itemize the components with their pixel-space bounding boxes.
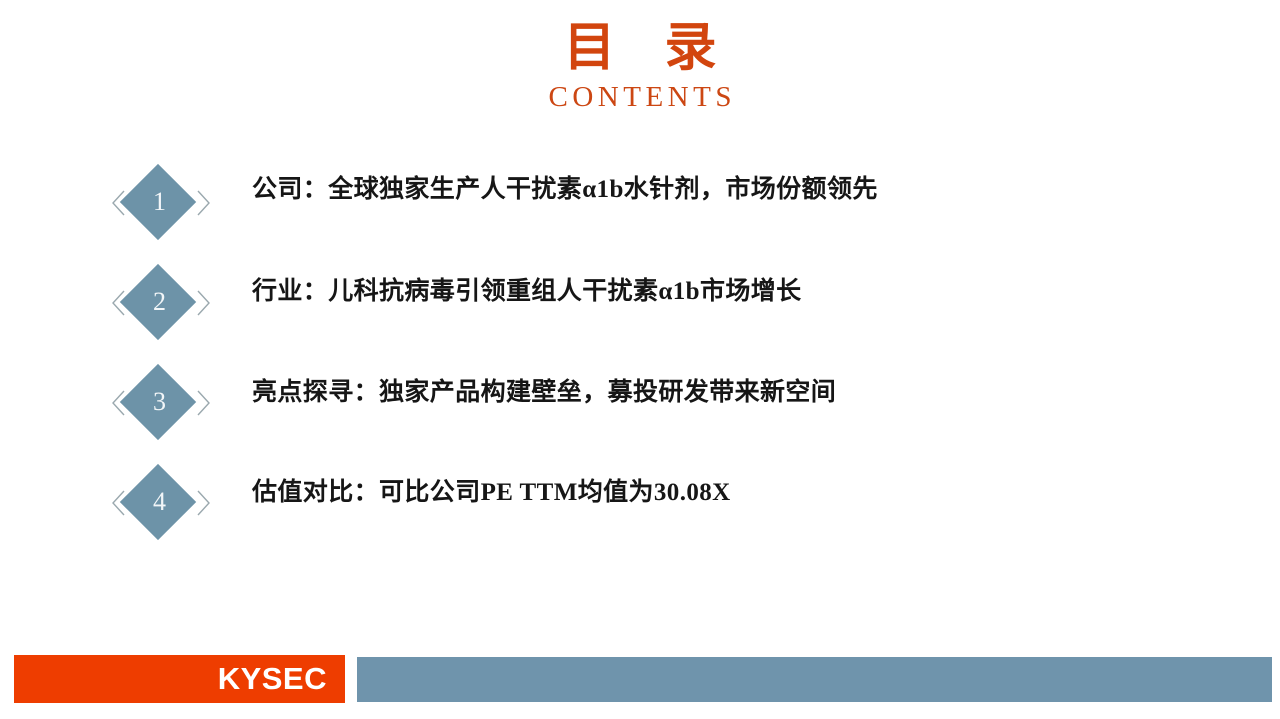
contents-item-label: 亮点探寻：独家产品构建壁垒，募投研发带来新空间 (252, 371, 1252, 415)
slide-title-block: 目 录 CONTENTS (0, 18, 1280, 114)
contents-marker-4: 4 (111, 464, 211, 540)
list-item[interactable]: 4 估值对比：可比公司PE TTM均值为30.08X (0, 452, 1280, 552)
contents-item-label: 行业：儿科抗病毒引领重组人干扰素α1b市场增长 (252, 270, 1252, 314)
contents-marker-number: 2 (111, 286, 211, 318)
contents-item-label: 估值对比：可比公司PE TTM均值为30.08X (252, 471, 1252, 515)
contents-marker-number: 3 (111, 386, 211, 418)
contents-marker-1: 1 (111, 164, 211, 240)
slide-root: 目 录 CONTENTS 1 公司：全球独家生产人干扰素α1b水针剂，市场份额领… (0, 0, 1280, 719)
list-item[interactable]: 2 行业：儿科抗病毒引领重组人干扰素α1b市场增长 (0, 252, 1280, 352)
list-item[interactable]: 3 亮点探寻：独家产品构建壁垒，募投研发带来新空间 (0, 352, 1280, 452)
contents-list: 1 公司：全球独家生产人干扰素α1b水针剂，市场份额领先 2 行业：儿科抗病毒引… (0, 152, 1280, 552)
slide-footer: KYSEC (0, 654, 1280, 719)
page-title-cn: 目 录 (0, 18, 1280, 79)
contents-marker-2: 2 (111, 264, 211, 340)
contents-marker-3: 3 (111, 364, 211, 440)
contents-item-label: 公司：全球独家生产人干扰素α1b水针剂，市场份额领先 (252, 168, 1252, 212)
brand-logo-text: KYSEC (218, 659, 327, 699)
contents-marker-number: 1 (111, 186, 211, 218)
page-title-en: CONTENTS (0, 82, 1280, 114)
footer-accent-bar (357, 657, 1272, 702)
brand-logo: KYSEC (14, 655, 345, 703)
list-item[interactable]: 1 公司：全球独家生产人干扰素α1b水针剂，市场份额领先 (0, 152, 1280, 252)
contents-marker-number: 4 (111, 486, 211, 518)
